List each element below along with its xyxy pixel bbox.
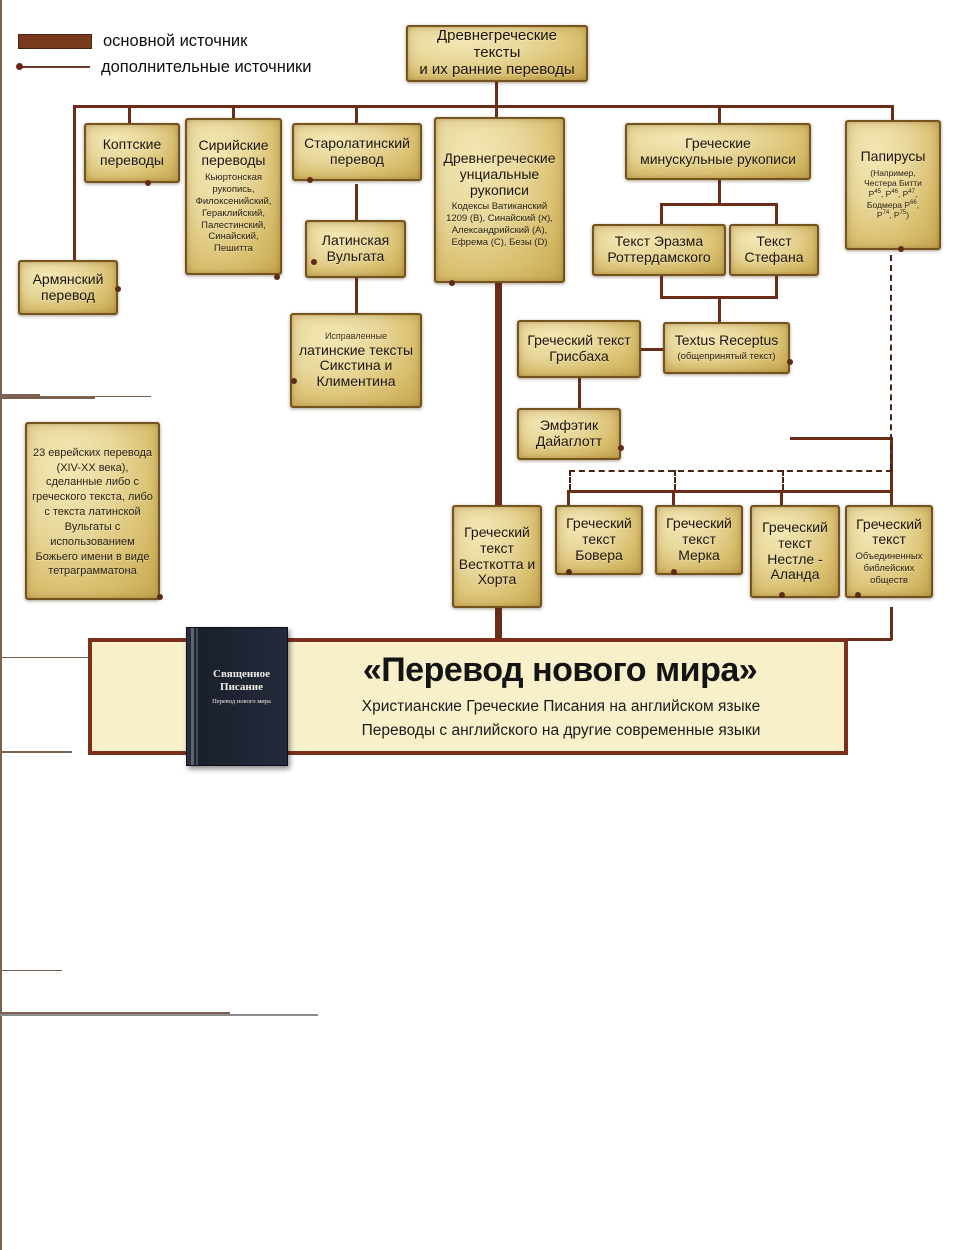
node-nestle-aland[interactable]: Греческий текст Нестле - Аланда: [750, 505, 840, 598]
dot-textus-receptus: [787, 359, 793, 365]
connector-to-merk: [672, 490, 675, 505]
book-spine-highlight: [191, 628, 194, 765]
bible-book-cover[interactable]: Священное Писание Перевод нового мира: [186, 627, 288, 766]
node-westcott-hort-title: Греческий текст Весткотта и Хорта: [459, 525, 535, 588]
node-syriac-title: Сирийские переводы: [198, 138, 268, 169]
connector-corrected-thin: [0, 751, 72, 753]
node-coptic[interactable]: Коптские переводы: [84, 123, 180, 183]
node-old-latin[interactable]: Старолатинский перевод: [292, 123, 422, 181]
connector-coptic-thin: [0, 399, 2, 506]
node-minuscule[interactable]: Греческие минускульные рукописи: [625, 123, 811, 180]
dot-oldlatin: [307, 177, 313, 183]
node-griesbach-title: Греческий текст Грисбаха: [527, 333, 630, 364]
node-bover-title: Греческий текст Бовера: [566, 516, 632, 563]
node-textus-receptus-title: Textus Receptus: [675, 333, 779, 349]
connector-merk-banner: [0, 1086, 2, 1156]
node-syriac-sub: Кьюртонская рукопись, Филоксенийский, Ге…: [191, 172, 276, 255]
node-armenian[interactable]: Армянский перевод: [18, 260, 118, 315]
connector-nestle-banner: [0, 1156, 2, 1203]
node-papyri-sub-line-2: P45, P46, P47,: [864, 189, 922, 200]
node-griesbach[interactable]: Греческий текст Грисбаха: [517, 320, 641, 378]
node-coptic-title: Коптские переводы: [100, 137, 164, 168]
dot-bover: [566, 569, 572, 575]
node-emphatic[interactable]: Эмфэтик Дайаглотт: [517, 408, 621, 460]
connector-left-thin-down: [0, 658, 2, 751]
banner-title: «Перевод нового мира»: [300, 651, 820, 690]
node-papyri-sub-line-1: Честера Битти: [864, 178, 922, 189]
connector-papyri-dash-merk: [674, 470, 676, 490]
node-vulgate-title: Латинская Вульгата: [322, 233, 389, 264]
node-erasmus-title: Текст Эразма Роттердамского: [607, 234, 710, 265]
node-ubs-sub: Объединенных библейских обществ: [851, 551, 927, 587]
book-title-line-2: Перевод нового мира: [201, 698, 282, 705]
node-stephanus[interactable]: Текст Стефана: [729, 224, 819, 276]
node-syriac[interactable]: Сирийские переводы Кьюртонская рукопись,…: [185, 118, 282, 275]
node-stephanus-title: Текст Стефана: [745, 234, 804, 265]
connector-ubs-banner: [890, 607, 893, 640]
legend-primary-label: основной источник: [103, 32, 247, 51]
dot-corrected-latin: [291, 378, 297, 384]
connector-syriac-thin: [0, 506, 2, 519]
connector-right-rail: [0, 0, 2, 394]
banner-subtitle-1: Христианские Греческие Писания на англий…: [296, 698, 826, 716]
node-nestle-aland-title: Греческий текст Нестле - Аланда: [762, 520, 828, 583]
node-hebrew-23[interactable]: 23 еврейских перевода (XIV-XX века), сде…: [25, 422, 160, 600]
node-root[interactable]: Древнегреческие тексты и их ранние перев…: [406, 25, 588, 82]
connector-rail-banner: [0, 397, 95, 399]
banner-subtitle-2: Переводы с английского на другие совреме…: [296, 722, 826, 740]
diagram-canvas: основной источник дополнительные источни…: [0, 0, 960, 774]
node-uncials[interactable]: Древнегреческие унциальные рукописи Коде…: [434, 117, 565, 283]
connector-vulgate-corrected: [355, 277, 358, 313]
node-corrected-latin[interactable]: Исправленные латинские тексты Сикстина и…: [290, 313, 422, 408]
node-hebrew-23-title: 23 еврейских перевода (XIV-XX века), сде…: [31, 446, 154, 580]
legend-secondary-line: [18, 66, 90, 68]
legend-row-primary: основной источник: [18, 28, 311, 54]
legend: основной источник дополнительные источни…: [18, 28, 311, 80]
connector-papyri-dash-nestle: [782, 470, 784, 490]
node-uncials-sub: Кодексы Ватиканский 1209 (B), Синайский …: [440, 201, 559, 249]
connector-to-bover: [567, 490, 570, 505]
node-papyri[interactable]: Папирусы (Например, Честера Битти P45, P…: [845, 120, 941, 250]
dot-syriac: [274, 274, 280, 280]
connector-erasmus-down: [660, 276, 663, 298]
connector-top-bus: [73, 105, 893, 108]
node-corrected-latin-title: латинские тексты Сикстина и Климентина: [299, 343, 413, 390]
connector-stephanus-down: [775, 276, 778, 298]
dot-coptic: [145, 180, 151, 186]
connector-minuscule-split: [660, 203, 778, 206]
dot-papyri: [898, 246, 904, 252]
connector-uncials-spine: [495, 283, 502, 505]
node-papyri-sub-line-3: Бодмера P66,: [864, 200, 922, 211]
connector-ubs-banner-thin: [0, 1203, 2, 1250]
legend-secondary-label: дополнительные источники: [101, 58, 311, 77]
connector-papyri-dash-bover: [569, 470, 571, 490]
connector-oldlatin-thin: [0, 519, 2, 629]
node-bover[interactable]: Греческий текст Бовера: [555, 505, 643, 575]
node-papyri-sub: (Например, Честера Битти P45, P46, P47, …: [864, 168, 922, 221]
node-corrected-latin-caption: Исправленные: [325, 331, 387, 341]
dot-hebrew23: [157, 594, 163, 600]
node-root-title: Древнегреческие тексты и их ранние перев…: [412, 28, 582, 78]
connector-bottom-bus: [567, 490, 890, 493]
connector-bottom-bus-top: [790, 437, 892, 440]
book-title-line-1: Священное Писание: [201, 668, 282, 693]
connector-ubs-banner-h: [844, 638, 892, 641]
node-papyri-title: Папирусы: [861, 149, 926, 165]
node-westcott-hort[interactable]: Греческий текст Весткотта и Хорта: [452, 505, 542, 608]
node-ubs[interactable]: Греческий текст Объединенных библейских …: [845, 505, 933, 598]
node-uncials-title: Древнегреческие унциальные рукописи: [443, 151, 555, 198]
connector-papyri-dashed-bus: [569, 470, 892, 472]
dot-armenian: [115, 286, 121, 292]
dot-emphatic: [618, 445, 624, 451]
node-armenian-title: Армянский перевод: [33, 272, 104, 303]
node-ubs-title: Греческий текст: [856, 517, 922, 548]
book-spine-shadow: [196, 628, 198, 765]
dot-uncials: [449, 280, 455, 286]
connector-to-stephanus: [775, 203, 778, 224]
connector-hebrew-thin: [0, 970, 62, 972]
node-emphatic-title: Эмфэтик Дайаглотт: [536, 418, 602, 449]
node-papyri-sub-line-4: P74, P75): [864, 210, 922, 221]
node-minuscule-title: Греческие минускульные рукописи: [640, 136, 796, 167]
node-erasmus[interactable]: Текст Эразма Роттердамского: [592, 224, 726, 276]
connector-to-nestle: [780, 490, 783, 505]
connector-to-minuscule: [718, 105, 721, 123]
node-old-latin-title: Старолатинский перевод: [304, 136, 410, 167]
connector-minuscule-down: [718, 180, 721, 204]
dot-merk: [671, 569, 677, 575]
connector-to-ubs: [890, 490, 893, 505]
connector-root-stem: [495, 82, 498, 107]
connector-to-coptic: [128, 105, 131, 123]
node-merk[interactable]: Греческий текст Мерка: [655, 505, 743, 575]
dot-ubs: [855, 592, 861, 598]
connector-tr-griesbach: [641, 348, 663, 351]
legend-primary-swatch: [18, 34, 92, 49]
dot-vulgate: [311, 259, 317, 265]
connector-to-erasmus: [660, 203, 663, 224]
connector-emphatic-grey: [0, 1014, 318, 1016]
connector-oldlatin-vulgate: [355, 184, 358, 220]
node-merk-title: Греческий текст Мерка: [666, 516, 732, 563]
legend-row-secondary: дополнительные источники: [18, 54, 311, 80]
node-vulgate[interactable]: Латинская Вульгата: [305, 220, 406, 278]
connector-to-oldlatin: [355, 105, 358, 123]
node-textus-receptus-sub: (общепринятый текст): [677, 351, 775, 363]
connector-papyri-dashed-down: [890, 255, 892, 470]
connector-left-to-banner: [0, 971, 2, 1006]
book-cover-text: Священное Писание Перевод нового мира: [201, 668, 282, 705]
connector-to-textus-receptus: [718, 296, 721, 322]
node-textus-receptus[interactable]: Textus Receptus (общепринятый текст): [663, 322, 790, 374]
dot-nestle: [779, 592, 785, 598]
connector-bover-banner: [0, 1016, 2, 1086]
connector-griesbach-emphatic: [578, 378, 581, 408]
connector-vulgate-thin: [0, 629, 2, 657]
connector-left-rail-down: [0, 753, 2, 970]
node-papyri-sub-line-0: (Например,: [864, 168, 922, 179]
